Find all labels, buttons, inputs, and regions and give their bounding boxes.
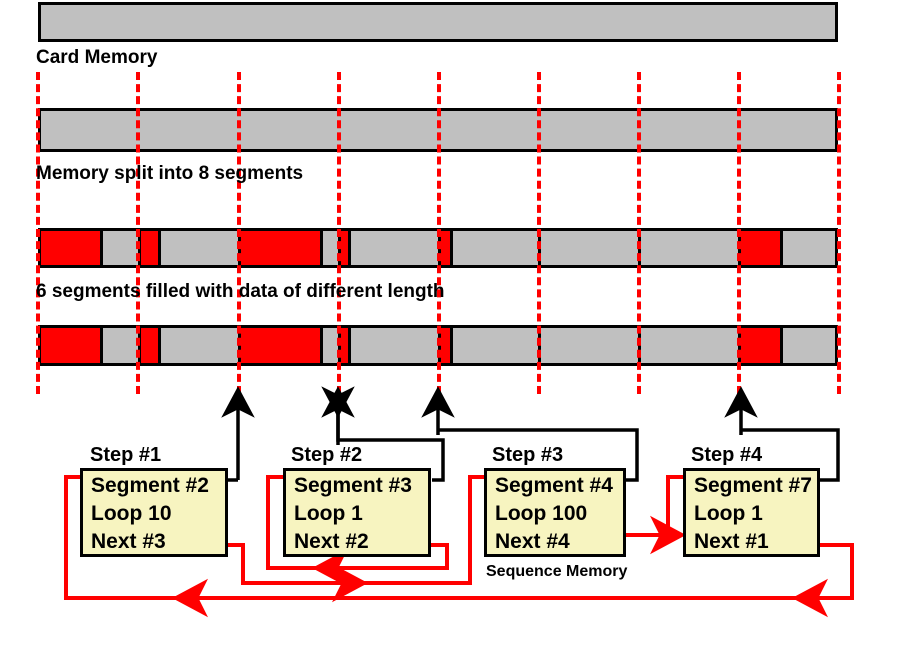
memory-filled-segment-1 bbox=[41, 231, 103, 265]
memory-pointed-segment-4 bbox=[341, 328, 351, 363]
step-4-segment: Segment #7 bbox=[694, 472, 817, 500]
step-4-loop: Loop 1 bbox=[694, 500, 817, 528]
step-3-box[interactable]: Segment #4 Loop 100 Next #4 bbox=[484, 468, 626, 557]
memory-filled-segment-4-rest bbox=[351, 231, 441, 265]
step-3-segment: Segment #4 bbox=[495, 472, 623, 500]
memory-pointed-segment-6 bbox=[541, 328, 641, 363]
step-2-loop: Loop 1 bbox=[294, 500, 428, 528]
card-memory-caption: Card Memory bbox=[36, 47, 157, 69]
memory-pointed-segment-4-rest bbox=[351, 328, 441, 363]
memory-filled-segment-7 bbox=[641, 231, 741, 265]
step-1-title: Step #1 bbox=[90, 444, 161, 467]
grid-dash-line-7 bbox=[637, 72, 641, 394]
memory-filled-segment-5-rest bbox=[453, 231, 541, 265]
grid-dash-line-4 bbox=[337, 72, 341, 394]
step-1-segment: Segment #2 bbox=[91, 472, 225, 500]
memory-pointed-segment-1 bbox=[41, 328, 103, 363]
memory-pointed-segment-7 bbox=[641, 328, 741, 363]
step-1-box[interactable]: Segment #2 Loop 10 Next #3 bbox=[80, 468, 228, 557]
grid-dash-line-5 bbox=[437, 72, 441, 394]
memory-split-caption: Memory split into 8 segments bbox=[36, 163, 303, 185]
step-3-next: Next #4 bbox=[495, 528, 623, 556]
step-2-title: Step #2 bbox=[291, 444, 362, 467]
step-1-loop: Loop 10 bbox=[91, 500, 225, 528]
memory-pointed-segment-5-rest bbox=[453, 328, 541, 363]
memory-filled-caption: 6 segments filled with data of different… bbox=[36, 281, 445, 303]
step-4-box[interactable]: Segment #7 Loop 1 Next #1 bbox=[683, 468, 820, 557]
grid-dash-line-2 bbox=[136, 72, 140, 394]
memory-pointed-segment-5 bbox=[441, 328, 453, 363]
grid-dash-line-3 bbox=[237, 72, 241, 394]
step-2-box[interactable]: Segment #3 Loop 1 Next #2 bbox=[283, 468, 431, 557]
step-4-title: Step #4 bbox=[691, 444, 762, 467]
grid-dash-line-8 bbox=[737, 72, 741, 394]
grid-dash-line-6 bbox=[537, 72, 541, 394]
card-memory-bar bbox=[38, 2, 838, 42]
memory-pointed-segment-8 bbox=[741, 328, 783, 363]
memory-pointed-segment-2 bbox=[141, 328, 161, 363]
step-1-next: Next #3 bbox=[91, 528, 225, 556]
sequence-memory-label: Sequence Memory bbox=[486, 563, 627, 581]
memory-filled-segment-6 bbox=[541, 231, 641, 265]
memory-filled-segment-4 bbox=[341, 231, 351, 265]
memory-filled-segment-2 bbox=[141, 231, 161, 265]
step-3-loop: Loop 100 bbox=[495, 500, 623, 528]
grid-dash-line-9 bbox=[837, 72, 841, 394]
pointer-arrow-step-1 bbox=[228, 402, 238, 480]
step-2-next: Next #2 bbox=[294, 528, 428, 556]
diagram-canvas: Card Memory Memory split into 8 segments… bbox=[0, 0, 908, 671]
step-4-next: Next #1 bbox=[694, 528, 817, 556]
memory-filled-segment-3 bbox=[241, 231, 323, 265]
grid-dash-line-1 bbox=[36, 72, 40, 394]
memory-pointed-segment-2-rest bbox=[161, 328, 241, 363]
step-3-title: Step #3 bbox=[492, 444, 563, 467]
step-2-segment: Segment #3 bbox=[294, 472, 428, 500]
memory-filled-segment-8 bbox=[741, 231, 783, 265]
memory-pointed-segment-3 bbox=[241, 328, 323, 363]
flow-step3-to-step4 bbox=[626, 477, 683, 535]
memory-filled-segment-2-rest bbox=[161, 231, 241, 265]
memory-filled-segment-5 bbox=[441, 231, 453, 265]
